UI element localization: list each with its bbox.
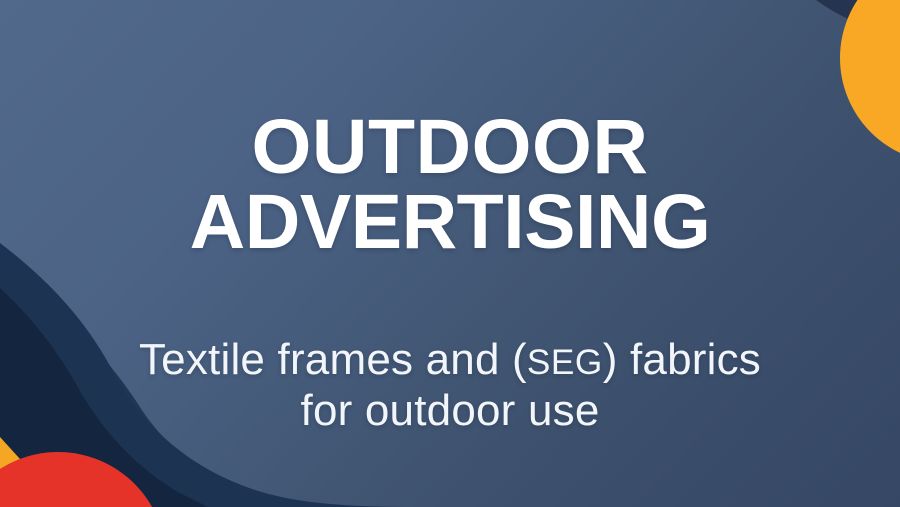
page-subtitle: Textile frames and (SEG) fabrics for out… [0, 334, 900, 436]
slide-text-layer: OUTDOOR ADVERTISING Textile frames and (… [0, 0, 900, 507]
page-subtitle-text-before-acronym: Textile frames and ( [139, 335, 527, 384]
page-subtitle-line-2: for outdoor use [0, 385, 900, 436]
page-subtitle-line-1: Textile frames and (SEG) fabrics [0, 334, 900, 385]
page-subtitle-acronym-seg: SEG [527, 343, 603, 382]
presentation-title-slide: OUTDOOR ADVERTISING Textile frames and (… [0, 0, 900, 507]
page-subtitle-text-after-acronym: ) fabrics [603, 335, 761, 384]
page-title: OUTDOOR ADVERTISING [0, 110, 900, 261]
page-title-line-1: OUTDOOR [0, 110, 900, 185]
page-title-line-2: ADVERTISING [0, 185, 900, 260]
